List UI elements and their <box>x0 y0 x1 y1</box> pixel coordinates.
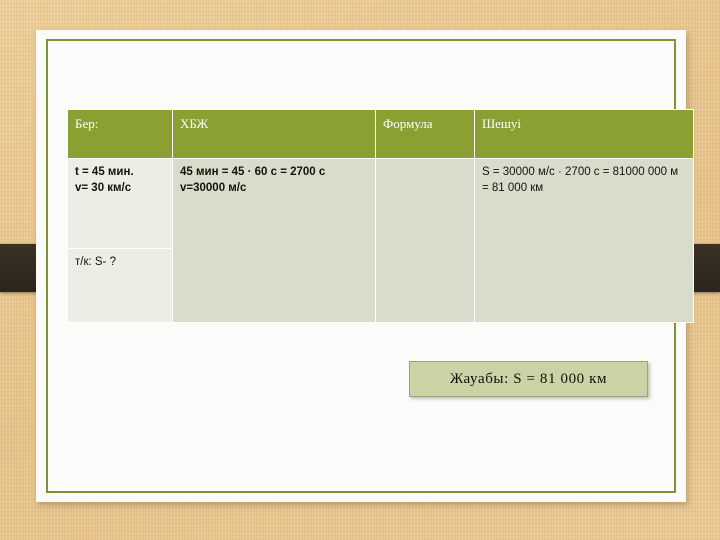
header-formula: Формула <box>376 110 475 159</box>
cell-unknown-quantity: т/к: S- ? <box>68 249 173 323</box>
cell-given-values: t = 45 мин. v= 30 км/с <box>68 159 173 249</box>
answer-text: Жауабы: S = 81 000 км <box>450 371 607 388</box>
table-header-row: Бер: ХБЖ Формула Шешуі <box>68 110 694 159</box>
si-time-conversion: 45 мин = 45 · 60 с = 2700 с <box>180 165 368 181</box>
content-panel: Бер: ХБЖ Формула Шешуі t = 45 мин. v= 30… <box>36 30 686 502</box>
cell-si-conversion: 45 мин = 45 · 60 с = 2700 с v=30000 м/с <box>173 159 376 323</box>
si-velocity-conversion: v=30000 м/с <box>180 181 368 197</box>
header-given: Бер: <box>68 110 173 159</box>
table-row: t = 45 мин. v= 30 км/с 45 мин = 45 · 60 … <box>68 159 694 249</box>
given-velocity-value: v= 30 км/с <box>75 181 165 197</box>
cell-formula <box>376 159 475 323</box>
header-si-units: ХБЖ <box>173 110 376 159</box>
physics-problem-table: Бер: ХБЖ Формула Шешуі t = 45 мин. v= 30… <box>67 109 694 323</box>
answer-callout: Жауабы: S = 81 000 км <box>409 361 648 397</box>
given-time-value: t = 45 мин. <box>75 165 165 181</box>
header-solution: Шешуі <box>475 110 694 159</box>
cell-solution: S = 30000 м/с · 2700 с = 81000 000 м = 8… <box>475 159 694 323</box>
slide-canvas: Бер: ХБЖ Формула Шешуі t = 45 мин. v= 30… <box>0 0 720 540</box>
